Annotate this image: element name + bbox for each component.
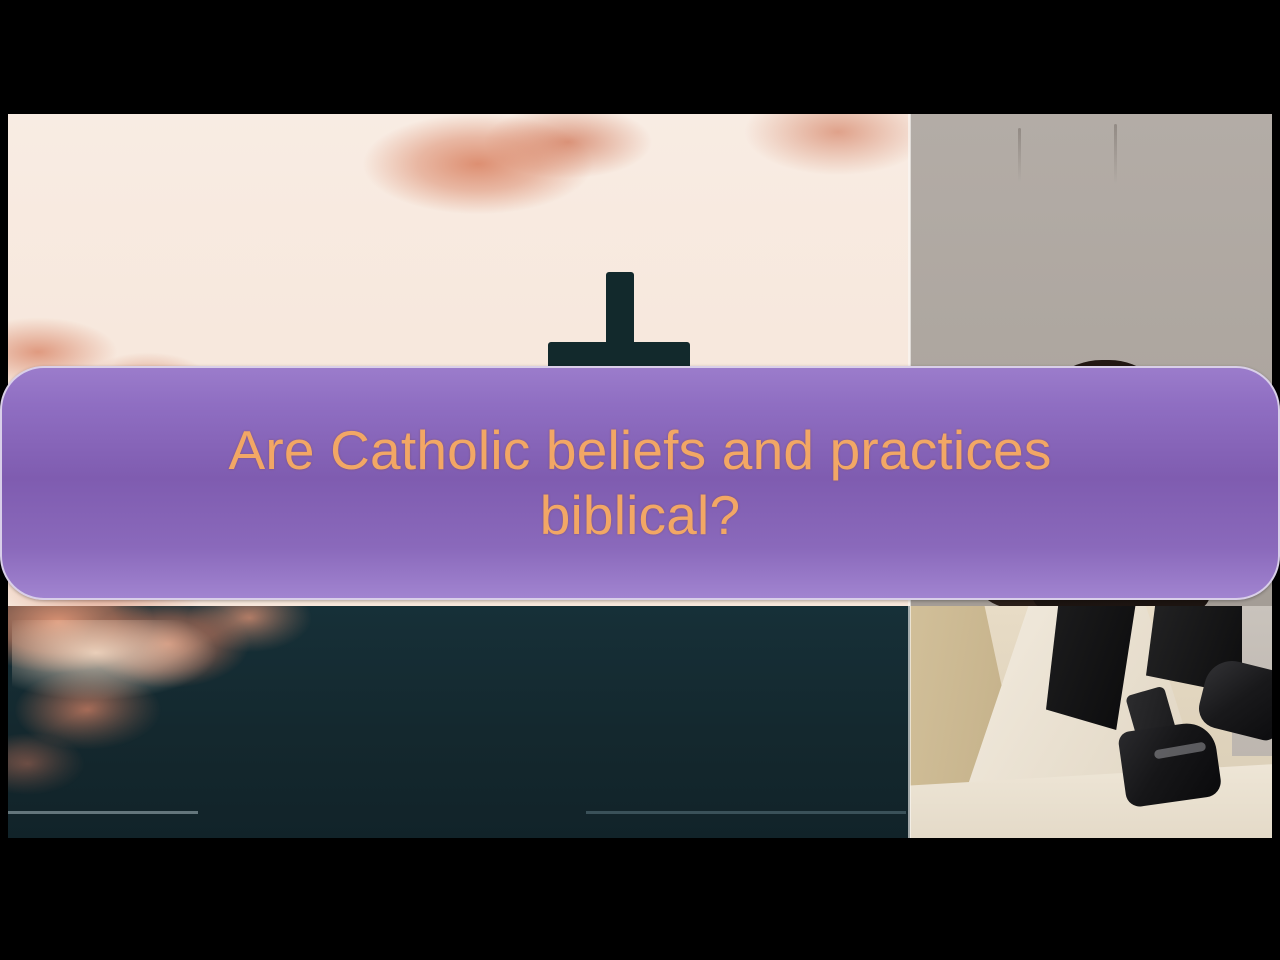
wall-streak	[1018, 128, 1021, 182]
video-still-stage: Are Catholic beliefs and practices bibli…	[0, 0, 1280, 960]
panel-legs-and-boots	[910, 606, 1272, 838]
title-text: Are Catholic beliefs and practices bibli…	[188, 418, 1091, 548]
wall-streak	[1114, 124, 1117, 184]
horizon-streak	[8, 811, 198, 814]
boot	[1117, 720, 1223, 809]
panel-dark-teal-sky-lower	[8, 606, 910, 838]
title-banner: Are Catholic beliefs and practices bibli…	[0, 366, 1280, 600]
cloud-highlight	[12, 620, 222, 702]
horizon-streak	[586, 811, 906, 814]
